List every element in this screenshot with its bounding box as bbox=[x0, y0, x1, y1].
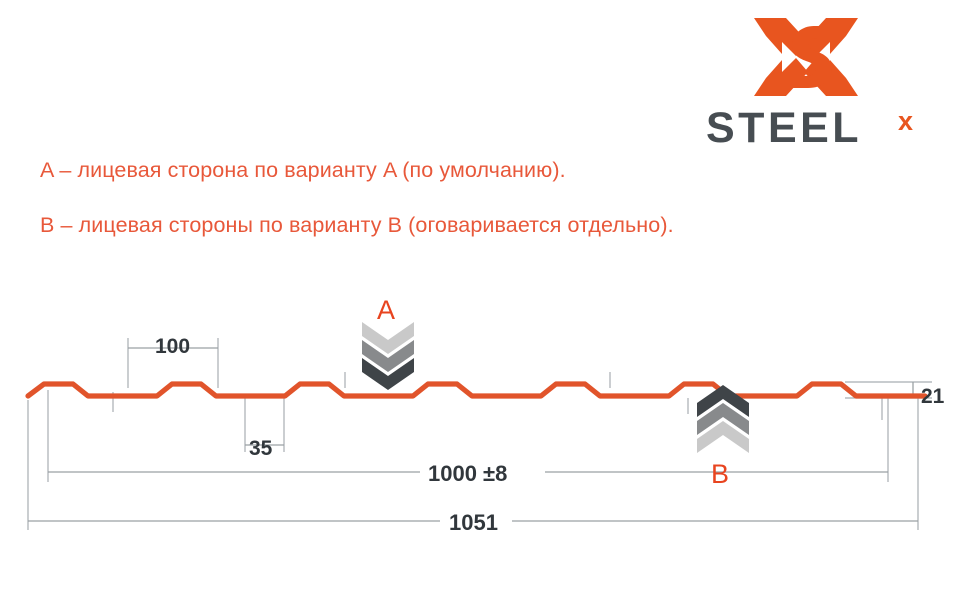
dimension-label-rib-pitch: 100 bbox=[155, 335, 190, 359]
steelx-wordmark: STEEL x bbox=[706, 104, 938, 152]
extension-lines bbox=[28, 338, 932, 530]
brand-logo: STEEL x bbox=[700, 14, 940, 144]
dimension-label-working-width: 1000 ±8 bbox=[428, 461, 507, 487]
dimension-label-profile-height: 21 bbox=[921, 385, 944, 409]
dimension-lines bbox=[28, 348, 918, 521]
marker-letter-a: A bbox=[377, 295, 395, 326]
wordmark-main-text: STEEL bbox=[706, 104, 862, 152]
note-line-b: B – лицевая стороны по варианту B (огова… bbox=[40, 213, 674, 238]
marker-letter-b: B bbox=[711, 459, 729, 490]
steelx-x-mark-icon bbox=[752, 14, 860, 100]
drawing-page: STEEL x A – лицевая сторона по варианту … bbox=[0, 0, 970, 593]
profile-outline bbox=[28, 384, 925, 396]
note-line-a: A – лицевая сторона по варианту A (по ум… bbox=[40, 158, 566, 183]
wordmark-superscript-text: x bbox=[898, 106, 913, 136]
marker-side-a-chevrons bbox=[362, 322, 414, 390]
dimension-label-valley-width: 35 bbox=[249, 437, 272, 461]
dimension-label-total-width: 1051 bbox=[449, 510, 498, 536]
